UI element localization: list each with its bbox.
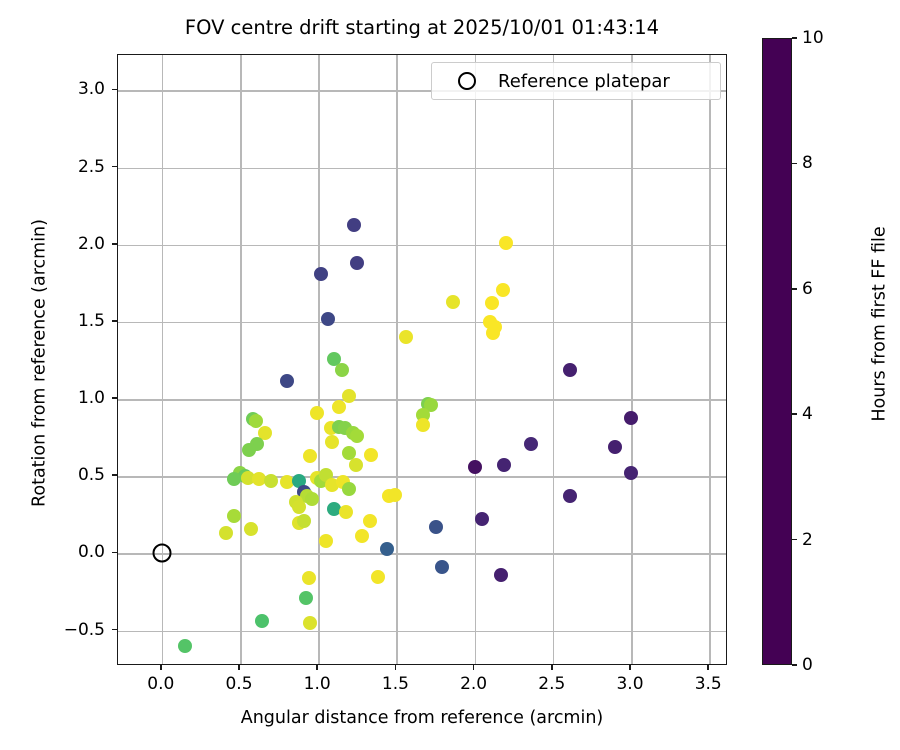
- y-axis-label: Rotation from reference (arcmin): [30, 58, 50, 669]
- y-tick-label-1: 0.0: [11, 542, 105, 562]
- gridline-x-5: [553, 55, 555, 664]
- scatter-point: [319, 534, 333, 548]
- scatter-point: [416, 418, 430, 432]
- scatter-point: [497, 458, 511, 472]
- scatter-point: [310, 406, 324, 420]
- scatter-point: [563, 489, 577, 503]
- x-tick-label-1: 0.5: [225, 674, 252, 694]
- x-tick-label-6: 3.0: [616, 674, 643, 694]
- y-tick-label-7: 3.0: [11, 79, 105, 99]
- scatter-point: [350, 256, 364, 270]
- scatter-point: [494, 568, 508, 582]
- colorbar-tick-label-1: 2: [802, 530, 813, 550]
- colorbar-tick-4: [792, 163, 797, 165]
- scatter-point: [280, 374, 294, 388]
- scatter-point: [496, 283, 510, 297]
- x-tick-label-3: 1.5: [382, 674, 409, 694]
- x-tick-label-0: 0.0: [147, 674, 174, 694]
- scatter-point: [332, 400, 346, 414]
- x-tick-6: [629, 665, 631, 670]
- gridline-y-1: [118, 553, 726, 555]
- scatter-point: [563, 363, 577, 377]
- scatter-point: [227, 509, 241, 523]
- colorbar-tick-1: [792, 539, 797, 541]
- scatter-point: [314, 267, 328, 281]
- scatter-point: [305, 492, 319, 506]
- scatter-point: [242, 443, 256, 457]
- gridline-y-4: [118, 322, 726, 324]
- scatter-point: [475, 512, 489, 526]
- scatter-point: [297, 514, 311, 528]
- x-tick-2: [316, 665, 318, 670]
- gridline-x-3: [396, 55, 398, 664]
- figure-canvas: FOV centre drift starting at 2025/10/01 …: [0, 0, 900, 750]
- scatter-point: [429, 520, 443, 534]
- y-tick-label-2: 0.5: [11, 465, 105, 485]
- colorbar-tick-0: [792, 664, 797, 666]
- scatter-point: [355, 529, 369, 543]
- legend[interactable]: Reference platepar: [431, 62, 721, 100]
- scatter-point: [363, 514, 377, 528]
- scatter-point: [178, 639, 192, 653]
- colorbar-tick-label-5: 10: [802, 28, 824, 48]
- y-tick-2: [112, 474, 117, 476]
- gridline-y-6: [118, 168, 726, 170]
- y-tick-0: [112, 629, 117, 631]
- x-tick-3: [395, 665, 397, 670]
- y-tick-label-0: −0.5: [11, 620, 105, 640]
- scatter-point: [249, 414, 263, 428]
- scatter-point: [303, 616, 317, 630]
- reference-platepar-marker-icon: [458, 72, 476, 90]
- colorbar-tick-label-4: 8: [802, 153, 813, 173]
- x-tick-label-7: 3.5: [695, 674, 722, 694]
- x-tick-5: [551, 665, 553, 670]
- scatter-point: [321, 312, 335, 326]
- x-tick-0: [160, 665, 162, 670]
- scatter-point: [608, 440, 622, 454]
- scatter-point: [380, 542, 394, 556]
- scatter-point: [339, 505, 353, 519]
- colorbar-label: Hours from first FF file: [870, 11, 890, 638]
- scatter-point: [486, 326, 500, 340]
- gridline-x-1: [240, 55, 242, 664]
- x-tick-label-4: 2.0: [460, 674, 487, 694]
- legend-entry-label: Reference platepar: [498, 71, 670, 92]
- reference-platepar-marker: [152, 544, 171, 563]
- colorbar-gradient: [762, 38, 792, 665]
- y-tick-3: [112, 397, 117, 399]
- y-tick-4: [112, 320, 117, 322]
- scatter-point: [303, 449, 317, 463]
- scatter-point: [325, 435, 339, 449]
- scatter-point: [302, 571, 316, 585]
- scatter-point: [342, 389, 356, 403]
- x-tick-7: [707, 665, 709, 670]
- page-title: FOV centre drift starting at 2025/10/01 …: [117, 16, 727, 39]
- scatter-point: [446, 295, 460, 309]
- gridline-x-2: [318, 55, 320, 664]
- scatter-point: [264, 474, 278, 488]
- y-tick-6: [112, 166, 117, 168]
- scatter-point: [524, 437, 538, 451]
- scatter-point: [342, 482, 356, 496]
- scatter-point: [335, 363, 349, 377]
- gridline-x-6: [631, 55, 633, 664]
- gridline-y-0: [118, 631, 726, 633]
- x-tick-label-2: 1.0: [304, 674, 331, 694]
- y-tick-label-6: 2.5: [11, 157, 105, 177]
- y-tick-label-4: 1.5: [11, 311, 105, 331]
- gridline-y-5: [118, 245, 726, 247]
- colorbar[interactable]: 0246810: [762, 38, 792, 665]
- gridline-x-4: [475, 55, 477, 664]
- colorbar-tick-label-3: 6: [802, 279, 813, 299]
- scatter-point: [388, 488, 402, 502]
- scatter-point: [468, 460, 482, 474]
- x-tick-1: [238, 665, 240, 670]
- x-tick-4: [473, 665, 475, 670]
- colorbar-tick-3: [792, 288, 797, 290]
- y-tick-label-5: 2.0: [11, 234, 105, 254]
- colorbar-tick-label-2: 4: [802, 404, 813, 424]
- scatter-point: [292, 500, 306, 514]
- scatter-point: [227, 472, 241, 486]
- y-tick-5: [112, 243, 117, 245]
- scatter-point: [350, 429, 364, 443]
- x-axis-label: Angular distance from reference (arcmin): [117, 708, 727, 728]
- scatter-point: [399, 330, 413, 344]
- scatter-point: [371, 570, 385, 584]
- plot-area[interactable]: [117, 54, 727, 665]
- scatter-point: [244, 522, 258, 536]
- colorbar-tick-2: [792, 413, 797, 415]
- scatter-point: [219, 526, 233, 540]
- scatter-point: [485, 296, 499, 310]
- scatter-point: [347, 218, 361, 232]
- scatter-point: [349, 458, 363, 472]
- scatter-point: [255, 614, 269, 628]
- colorbar-tick-5: [792, 37, 797, 39]
- x-tick-label-5: 2.5: [538, 674, 565, 694]
- scatter-point: [299, 591, 313, 605]
- gridline-x-0: [162, 55, 164, 664]
- scatter-point: [624, 466, 638, 480]
- scatter-point: [624, 411, 638, 425]
- y-tick-1: [112, 552, 117, 554]
- y-tick-label-3: 1.0: [11, 388, 105, 408]
- scatter-point: [364, 448, 378, 462]
- colorbar-tick-label-0: 0: [802, 655, 813, 675]
- gridline-x-7: [709, 55, 711, 664]
- y-tick-7: [112, 89, 117, 91]
- scatter-point: [435, 560, 449, 574]
- scatter-point: [499, 236, 513, 250]
